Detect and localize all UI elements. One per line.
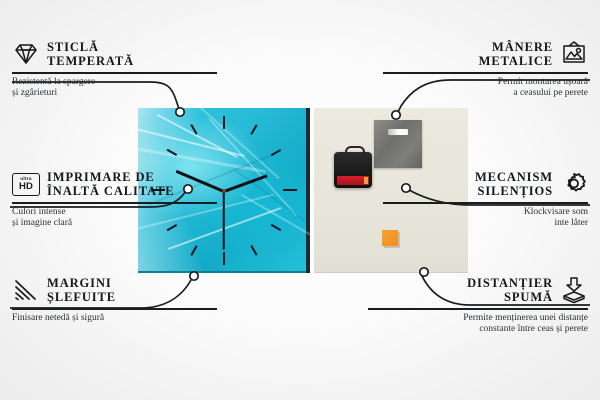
callout-title: STICLĂ TEMPERATĂ (47, 40, 134, 68)
hanger-slot (388, 129, 408, 135)
second-hand (223, 191, 225, 249)
movement-hook (345, 146, 365, 158)
hour-hand (223, 174, 267, 193)
clock-movement (334, 152, 372, 188)
callout-rule (12, 202, 217, 204)
hour-marker-10 (167, 149, 177, 156)
callout-subtitle: Permite menținerea unei distanțe constan… (368, 313, 588, 336)
callout-subtitle: Culori intense și imagine clară (12, 207, 217, 230)
callout-edges: MARGINI ȘLEFUITE Finisare netedă și sigu… (12, 276, 217, 324)
callout-subtitle: Klockvisare som inte låter (383, 207, 588, 230)
callout-subtitle: Rezistentă la spargere și zgârieturi (12, 77, 217, 100)
hour-marker-1 (250, 124, 257, 134)
callout-rule (12, 308, 217, 310)
callout-mechanism: MECANISM SILENȚIOS Klockvisare som inte … (383, 170, 588, 230)
gear-icon (560, 171, 588, 197)
hour-marker-7 (190, 245, 197, 255)
ultra-hd-icon: ultra HD (12, 173, 40, 196)
callout-title: DISTANȚIER SPUMĂ (467, 276, 553, 304)
callout-rule (383, 72, 588, 74)
callout-title: IMPRIMARE DE ÎNALTĂ CALITATE (47, 170, 175, 198)
callout-title: MECANISM SILENȚIOS (475, 170, 553, 198)
callout-handles: MÂNERE METALICE Permit montarea ușoară a… (383, 40, 588, 100)
hour-marker-12 (223, 116, 225, 129)
callout-rule (368, 308, 588, 310)
battery-terminal (364, 177, 368, 184)
callout-tempered-glass: STICLĂ TEMPERATĂ Rezistentă la spargere … (12, 40, 217, 100)
hour-marker-3 (283, 189, 297, 191)
hour-marker-2 (271, 149, 281, 156)
callout-subtitle: Finisare netedă și sigură (12, 313, 217, 325)
hour-marker-6 (223, 252, 225, 265)
callout-title: MÂNERE METALICE (479, 40, 553, 68)
picture-hanger-icon (560, 41, 588, 67)
clock-center-pin (222, 189, 226, 193)
polished-edges-icon (12, 278, 40, 302)
callout-subtitle: Permit montarea ușoară a ceasului pe per… (383, 77, 588, 100)
callout-print-quality: ultra HD IMPRIMARE DE ÎNALTĂ CALITATE Cu… (12, 170, 217, 230)
diamond-icon (12, 42, 40, 66)
callout-title: MARGINI ȘLEFUITE (47, 276, 116, 304)
callout-spacer: DISTANȚIER SPUMĂ Permite menținerea unei… (368, 276, 588, 336)
foam-spacer-icon (560, 276, 588, 304)
hour-marker-5 (250, 245, 257, 255)
callout-rule (383, 202, 588, 204)
infographic-canvas: STICLĂ TEMPERATĂ Rezistentă la spargere … (0, 0, 600, 400)
ultra-hd-icon-main-label: HD (19, 182, 33, 192)
hour-marker-4 (271, 224, 281, 231)
foam-spacer (382, 230, 398, 246)
battery (337, 176, 369, 185)
callout-rule (12, 72, 217, 74)
metal-hanger (374, 120, 422, 168)
hour-marker-11 (190, 124, 197, 134)
